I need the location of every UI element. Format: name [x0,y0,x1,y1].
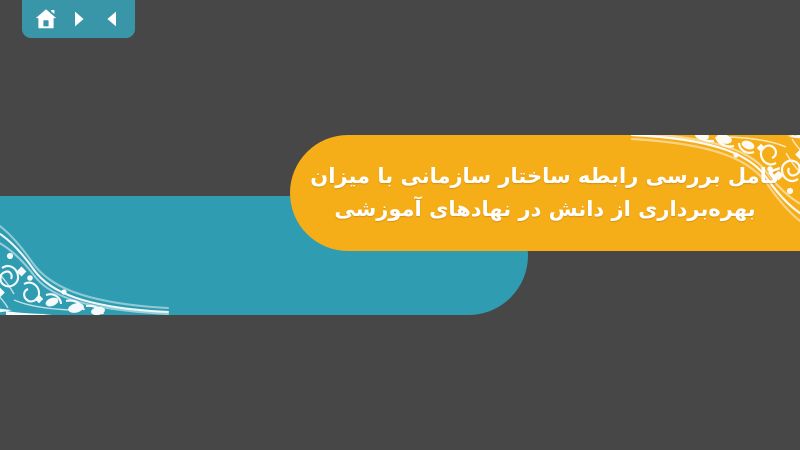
arabesque-corner-ornament-teal [0,196,170,315]
previous-arrow-icon [102,9,122,29]
home-icon [34,7,58,31]
home-button[interactable] [32,5,60,33]
forward-button[interactable] [65,5,93,33]
navigation-bar [22,0,135,38]
next-arrow-icon [69,9,89,29]
yellow-banner [290,135,800,251]
back-button[interactable] [98,5,126,33]
arabesque-corner-ornament-yellow [610,135,800,251]
